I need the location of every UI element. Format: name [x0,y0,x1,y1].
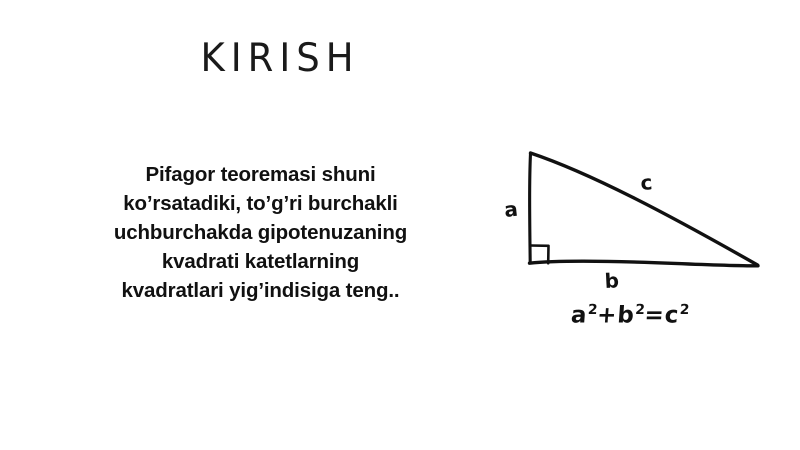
body-line: kvadrati katetlarning [58,247,463,276]
body-line: Pifagor teoremasi shuni [58,160,463,189]
formula-base-a: a [570,303,588,329]
formula-exp-c: 2 [679,302,690,318]
body-line: ko’rsatadiki, to’g’ri burchakli [58,189,463,218]
body-line: kvadratlari yig’indisiga teng.. [58,276,463,305]
formula-plus: + [596,303,618,329]
formula-equals: = [644,303,666,329]
formula-base-b: b [616,303,635,329]
pythagorean-formula: a2+b2=c2 [539,302,721,329]
body-paragraph: Pifagor teoremasi shuni ko’rsatadiki, to… [58,160,463,305]
label-a: a [503,197,519,222]
body-line: uchburchakda gipotenuzaning [58,218,463,247]
triangle-base-line [530,261,759,266]
page-title: KIRISH [0,38,560,77]
formula-base-c: c [664,303,680,329]
label-b: b [604,268,620,293]
slide-canvas: KIRISH Pifagor teoremasi shuni ko’rsatad… [0,0,800,450]
label-c: c [640,170,654,195]
